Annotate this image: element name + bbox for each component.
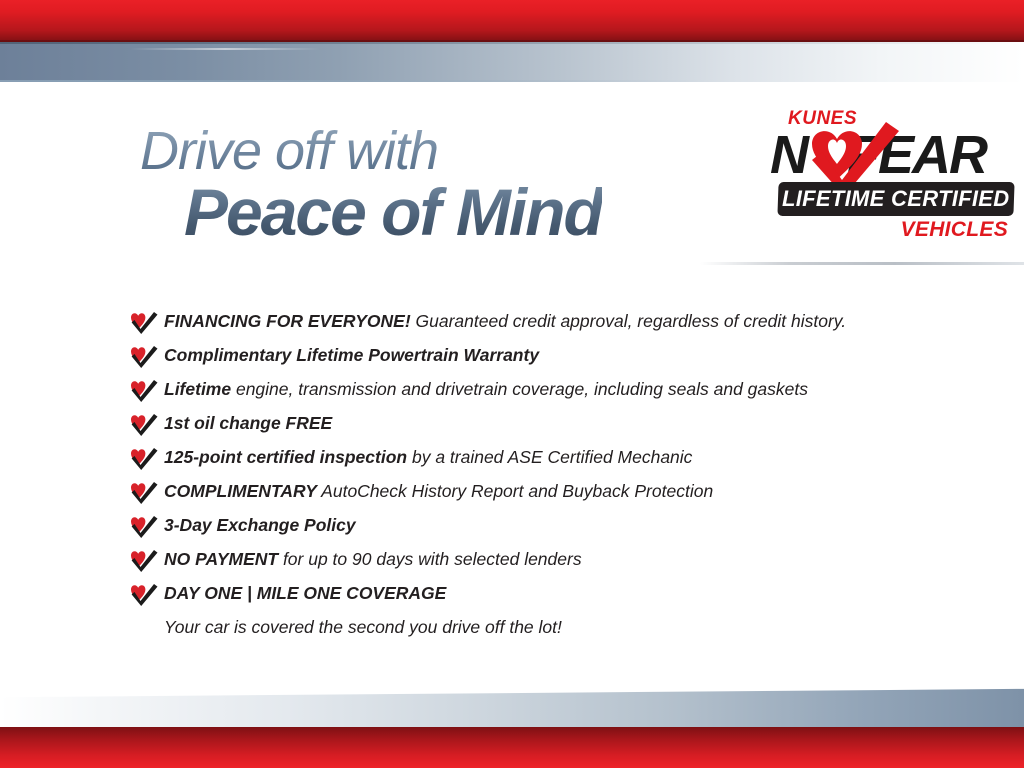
benefit-item: Complimentary Lifetime Powertrain Warran… bbox=[130, 344, 920, 369]
heart-check-icon bbox=[130, 311, 158, 335]
kunes-no-fear-logo: KUNES NOFEAR LIFETIME CERTIFIED VEHICLES bbox=[770, 108, 1014, 248]
benefit-item: DAY ONE | MILE ONE COVERAGEYour car is c… bbox=[130, 582, 920, 639]
benefit-item: COMPLIMENTARY AutoCheck History Report a… bbox=[130, 480, 920, 505]
benefit-bold-label: Complimentary Lifetime Powertrain Warran… bbox=[164, 345, 539, 365]
benefit-text: FINANCING FOR EVERYONE! Guaranteed credi… bbox=[164, 310, 846, 332]
heart-check-icon bbox=[130, 413, 158, 437]
heart-check-icon bbox=[130, 345, 158, 369]
benefit-detail-text: engine, transmission and drivetrain cove… bbox=[231, 379, 808, 399]
benefit-item: NO PAYMENT for up to 90 days with select… bbox=[130, 548, 920, 573]
benefit-text: 1st oil change FREE bbox=[164, 412, 332, 434]
benefit-row: Complimentary Lifetime Powertrain Warran… bbox=[130, 344, 920, 369]
bottom-banner bbox=[0, 688, 1024, 768]
heart-check-icon bbox=[130, 447, 158, 471]
benefit-text: 3-Day Exchange Policy bbox=[164, 514, 356, 536]
benefit-text: 125-point certified inspection by a trai… bbox=[164, 446, 692, 468]
benefit-row: FINANCING FOR EVERYONE! Guaranteed credi… bbox=[130, 310, 920, 335]
benefit-detail-text: for up to 90 days with selected lenders bbox=[278, 549, 582, 569]
benefit-bold-label: Lifetime bbox=[164, 379, 231, 399]
benefit-row: DAY ONE | MILE ONE COVERAGE bbox=[130, 582, 920, 607]
top-stripe-highlight bbox=[130, 48, 320, 50]
benefit-bold-label: 1st oil change FREE bbox=[164, 413, 332, 433]
benefit-row: COMPLIMENTARY AutoCheck History Report a… bbox=[130, 480, 920, 505]
logo-vehicles-label: VEHICLES bbox=[901, 218, 1008, 242]
logo-nofear-row: NOFEAR bbox=[770, 126, 1014, 188]
benefit-item: 3-Day Exchange Policy bbox=[130, 514, 920, 539]
bottom-red-stripe bbox=[0, 727, 1024, 768]
heart-check-icon bbox=[130, 481, 158, 505]
benefit-detail-text: Guaranteed credit approval, regardless o… bbox=[411, 311, 846, 331]
heart-check-icon bbox=[130, 549, 158, 573]
benefit-bold-label: 3-Day Exchange Policy bbox=[164, 515, 356, 535]
top-banner bbox=[0, 0, 1024, 84]
heart-check-icon bbox=[130, 379, 158, 403]
benefit-subtext: Your car is covered the second you drive… bbox=[164, 616, 920, 639]
benefit-row: 125-point certified inspection by a trai… bbox=[130, 446, 920, 471]
benefit-row: 1st oil change FREE bbox=[130, 412, 920, 437]
logo-badge-label: LIFETIME CERTIFIED bbox=[782, 186, 1009, 212]
benefit-text: Complimentary Lifetime Powertrain Warran… bbox=[164, 344, 539, 366]
benefit-text: COMPLIMENTARY AutoCheck History Report a… bbox=[164, 480, 713, 502]
bottom-gray-stripe bbox=[0, 688, 1024, 730]
benefit-text: Lifetime engine, transmission and drivet… bbox=[164, 378, 808, 400]
benefits-list: FINANCING FOR EVERYONE! Guaranteed credi… bbox=[130, 310, 920, 639]
page-title: Drive off with Peace of Mind bbox=[140, 122, 602, 248]
headline-divider bbox=[700, 262, 1024, 265]
benefit-bold-label: 125-point certified inspection bbox=[164, 447, 407, 467]
benefit-bold-label: NO PAYMENT bbox=[164, 549, 278, 569]
benefit-bold-label: COMPLIMENTARY bbox=[164, 481, 317, 501]
logo-letter-n: N bbox=[770, 125, 807, 185]
benefit-item: 1st oil change FREE bbox=[130, 412, 920, 437]
benefit-detail-text: AutoCheck History Report and Buyback Pro… bbox=[317, 481, 713, 501]
heart-check-icon bbox=[130, 583, 158, 607]
heart-check-icon bbox=[130, 515, 158, 539]
benefit-item: 125-point certified inspection by a trai… bbox=[130, 446, 920, 471]
benefit-row: Lifetime engine, transmission and drivet… bbox=[130, 378, 920, 403]
benefit-item: FINANCING FOR EVERYONE! Guaranteed credi… bbox=[130, 310, 920, 335]
benefit-text: DAY ONE | MILE ONE COVERAGE bbox=[164, 582, 446, 604]
benefit-row: NO PAYMENT for up to 90 days with select… bbox=[130, 548, 920, 573]
benefit-detail-text: by a trained ASE Certified Mechanic bbox=[407, 447, 692, 467]
benefit-bold-label: DAY ONE | MILE ONE COVERAGE bbox=[164, 583, 446, 603]
benefit-row: 3-Day Exchange Policy bbox=[130, 514, 920, 539]
benefit-item: Lifetime engine, transmission and drivet… bbox=[130, 378, 920, 403]
headline-line-1: Drive off with bbox=[140, 122, 602, 180]
logo-lifetime-certified-badge: LIFETIME CERTIFIED bbox=[777, 182, 1014, 216]
benefit-bold-label: FINANCING FOR EVERYONE! bbox=[164, 311, 411, 331]
top-red-stripe bbox=[0, 0, 1024, 42]
headline-line-2: Peace of Mind bbox=[184, 176, 602, 248]
benefit-text: NO PAYMENT for up to 90 days with select… bbox=[164, 548, 582, 570]
